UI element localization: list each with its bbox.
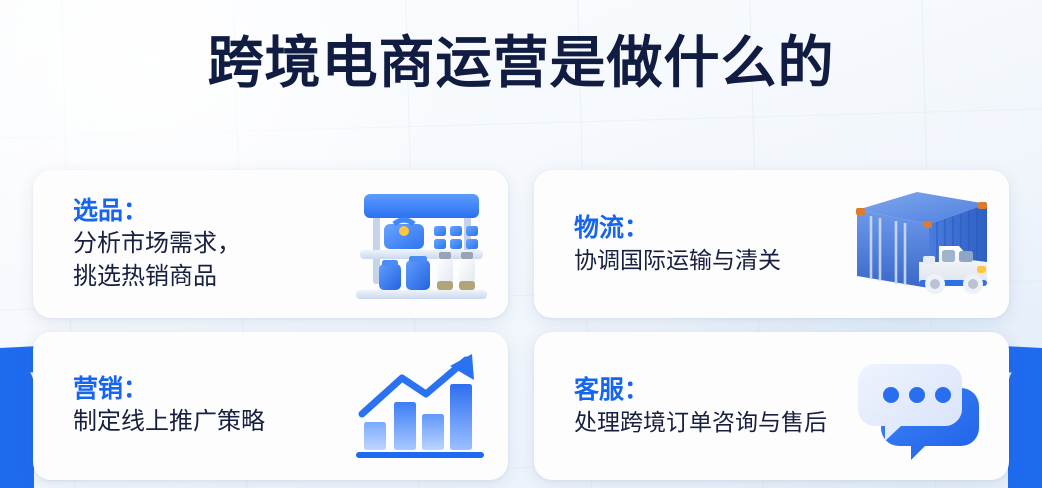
card-customer-service[interactable]: 客服： 处理跨境订单咨询与售后 bbox=[534, 332, 1009, 480]
card-heading: 客服： bbox=[574, 374, 827, 407]
cards-grid: 选品： 分析市场需求， 挑选热销商品 bbox=[33, 170, 1009, 480]
chat-bubbles-icon bbox=[847, 346, 997, 466]
card-body-line1: 协调国际运输与清关 bbox=[574, 245, 781, 276]
decorative-band-right bbox=[1008, 360, 1042, 488]
card-marketing[interactable]: 营销： 制定线上推广策略 bbox=[33, 332, 508, 480]
growth-chart-icon bbox=[346, 346, 496, 466]
card-heading: 物流： bbox=[574, 212, 781, 245]
card-heading: 营销： bbox=[73, 373, 265, 406]
card-body-line2: 挑选热销商品 bbox=[73, 261, 241, 293]
card-product-selection[interactable]: 选品： 分析市场需求， 挑选热销商品 bbox=[33, 170, 508, 318]
card-text-block: 物流： 协调国际运输与清关 bbox=[574, 212, 781, 276]
shipping-container-truck-icon bbox=[847, 184, 997, 304]
card-text-block: 客服： 处理跨境订单咨询与售后 bbox=[574, 374, 827, 438]
store-shelf-icon bbox=[346, 184, 496, 304]
card-body-line1: 处理跨境订单咨询与售后 bbox=[574, 407, 827, 438]
card-text-block: 营销： 制定线上推广策略 bbox=[73, 373, 265, 438]
card-heading: 选品： bbox=[73, 195, 241, 228]
card-body-line1: 分析市场需求， bbox=[73, 228, 241, 260]
card-logistics[interactable]: 物流： 协调国际运输与清关 bbox=[534, 170, 1009, 318]
page-title: 跨境电商运营是做什么的 bbox=[0, 32, 1042, 95]
card-text-block: 选品： 分析市场需求， 挑选热销商品 bbox=[73, 195, 241, 292]
card-body-line1: 制定线上推广策略 bbox=[73, 406, 265, 438]
decorative-band-left bbox=[0, 360, 34, 488]
